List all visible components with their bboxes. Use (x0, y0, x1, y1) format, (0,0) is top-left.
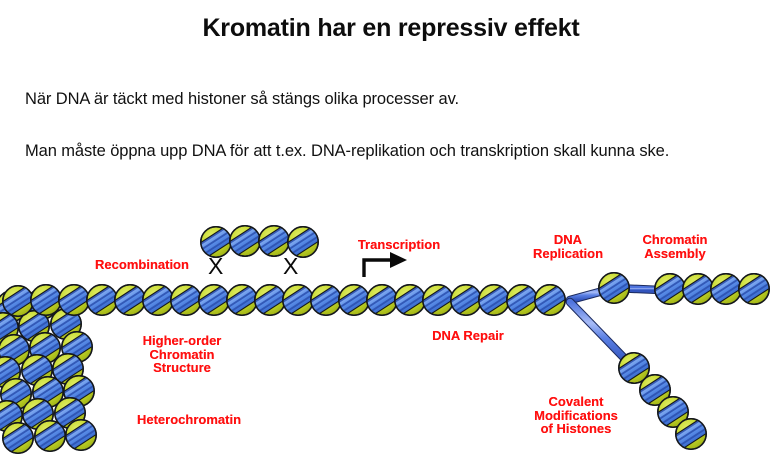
label-dna-repair: DNA Repair (418, 329, 518, 343)
slide-canvas: Kromatin har en repressiv effekt När DNA… (0, 0, 782, 460)
label-higher-order-chromatin-structure: Higher-order Chromatin Structure (128, 334, 236, 375)
body-paragraph-2: Man måste öppna upp DNA för att t.ex. DN… (25, 142, 669, 161)
label-recombination: Recombination (88, 258, 196, 272)
page-title: Kromatin har en repressiv effekt (0, 14, 782, 43)
cross-mark-left: X (208, 255, 223, 278)
chromatin-assembly-arm (594, 271, 773, 306)
label-chromatin-assembly: Chromatin Assembly (625, 233, 725, 260)
main-nucleosome-fiber (0, 283, 570, 318)
cross-mark-right: X (283, 255, 298, 278)
body-paragraph-1: När DNA är täckt med histoner så stängs … (25, 90, 459, 109)
bent-arrow-icon (364, 252, 407, 277)
label-covalent-modifications-of-histones: Covalent Modifications of Histones (520, 395, 632, 436)
chromatin-states-diagram: Recombination X X Transcription DNA Repl… (0, 200, 782, 460)
label-heterochromatin: Heterochromatin (124, 413, 254, 427)
label-dna-replication: DNA Replication (523, 233, 613, 260)
label-transcription: Transcription (344, 238, 454, 252)
